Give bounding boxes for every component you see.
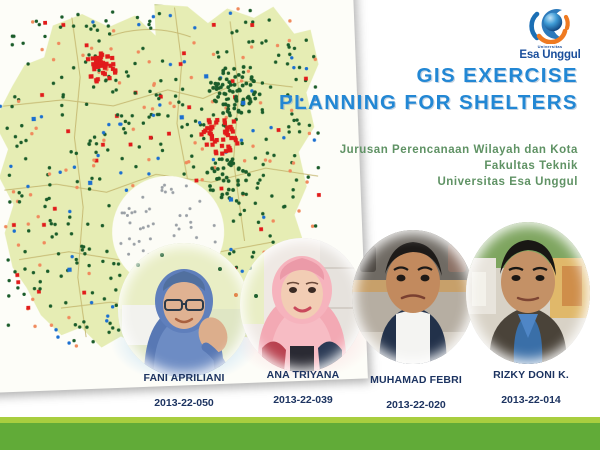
footer-dark-bar: [0, 423, 600, 450]
subtitle-department: Jurusan Perencanaan Wilayah dan Kota: [178, 142, 578, 158]
student-photo-febri: [352, 230, 474, 364]
presentation-slide: Universitas Esa Unggul GIS EXERCISE PLAN…: [0, 0, 600, 450]
esa-unggul-swirl-icon: [528, 4, 572, 44]
student-id: 2013-22-014: [468, 394, 594, 406]
title-line-1: GIS EXERCISE: [178, 62, 578, 89]
title-line-2: PLANNING FOR SHELTERS: [178, 89, 578, 116]
student-caption: ANA TRIYANA 2013-22-039: [238, 369, 368, 406]
student-caption: FANI APRILIANI 2013-22-050: [118, 372, 250, 409]
student-photo-ana: [240, 238, 364, 372]
student-caption: MUHAMAD FEBRI 2013-22-020: [350, 374, 482, 411]
student-photo-fani: [118, 243, 250, 377]
student-name: RIZKY DONI K.: [468, 369, 594, 381]
student-photo-rizky: [466, 222, 590, 364]
slide-subtitle: Jurusan Perencanaan Wilayah dan Kota Fak…: [178, 142, 578, 190]
subtitle-faculty: Fakultas Teknik: [178, 158, 578, 174]
student-caption: RIZKY DONI K. 2013-22-014: [468, 369, 594, 406]
subtitle-university: Universitas Esa Unggul: [178, 174, 578, 190]
university-logo: Universitas Esa Unggul: [510, 4, 590, 60]
student-name: MUHAMAD FEBRI: [350, 374, 482, 386]
slide-title: GIS EXERCISE PLANNING FOR SHELTERS: [178, 62, 578, 116]
student-name: ANA TRIYANA: [238, 369, 368, 381]
student-id: 2013-22-050: [118, 397, 250, 409]
student-name: FANI APRILIANI: [118, 372, 250, 384]
logo-main-text: Esa Unggul: [510, 49, 590, 61]
student-id: 2013-22-039: [238, 394, 368, 406]
student-id: 2013-22-020: [350, 399, 482, 411]
